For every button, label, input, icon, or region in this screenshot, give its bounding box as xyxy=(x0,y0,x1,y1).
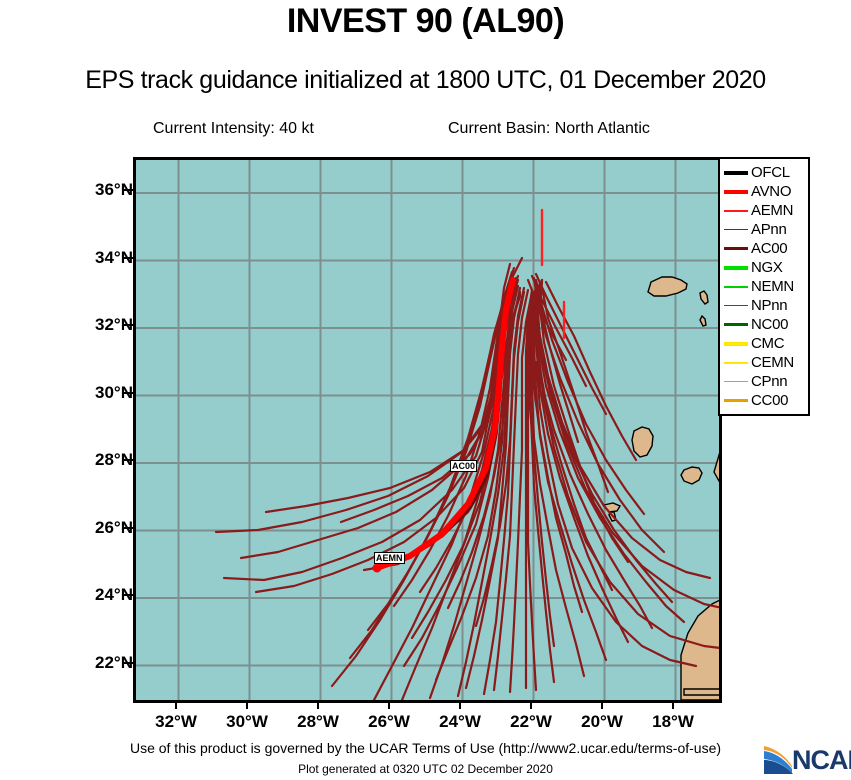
legend-item-cc00[interactable]: CC00 xyxy=(724,391,806,410)
legend-item-avno[interactable]: AVNO xyxy=(724,182,806,201)
lon-label-30: 30°W xyxy=(207,712,287,732)
plot-generated-text: Plot generated at 0320 UTC 02 December 2… xyxy=(0,762,851,776)
legend-item-ac00[interactable]: AC00 xyxy=(724,239,806,258)
legend-line-icon xyxy=(724,171,748,175)
lon-label-24: 24°W xyxy=(420,712,500,732)
legend-label: CEMN xyxy=(751,355,794,371)
legend-item-cemn[interactable]: CEMN xyxy=(724,353,806,372)
legend-line-icon xyxy=(724,247,748,250)
legend-item-npnn[interactable]: NPnn xyxy=(724,296,806,315)
legend-line-icon xyxy=(724,286,748,288)
ncar-swoosh-icon xyxy=(762,744,796,778)
legend-line-icon xyxy=(724,190,748,194)
legend-line-icon xyxy=(724,266,748,270)
lon-tick-26 xyxy=(388,700,390,709)
lon-tick-28 xyxy=(317,700,319,709)
legend-line-icon xyxy=(724,342,748,346)
lon-label-32: 32°W xyxy=(136,712,216,732)
model-legend: OFCL AVNO AEMN APnn AC00 NGX NEMN NPnn N… xyxy=(718,157,810,416)
lon-tick-22 xyxy=(530,700,532,709)
legend-item-cpnn[interactable]: CPnn xyxy=(724,372,806,391)
legend-label: AC00 xyxy=(751,241,787,257)
legend-label: OFCL xyxy=(751,165,790,181)
lon-label-22: 22°W xyxy=(491,712,571,732)
legend-line-icon xyxy=(724,399,748,402)
lon-tick-20 xyxy=(601,700,603,709)
legend-label: NC00 xyxy=(751,317,788,333)
legend-line-icon xyxy=(724,305,748,306)
legend-label: AEMN xyxy=(751,203,793,219)
legend-item-ofcl[interactable]: OFCL xyxy=(724,163,806,182)
legend-item-aemn[interactable]: AEMN xyxy=(724,201,806,220)
legend-label: APnn xyxy=(751,222,787,238)
ncar-wordmark: NCAR xyxy=(792,745,851,776)
lon-tick-24 xyxy=(459,700,461,709)
legend-label: AVNO xyxy=(751,184,791,200)
terms-of-use-text: Use of this product is governed by the U… xyxy=(0,740,851,756)
legend-item-apnn[interactable]: APnn xyxy=(724,220,806,239)
legend-item-nemn[interactable]: NEMN xyxy=(724,277,806,296)
legend-label: NEMN xyxy=(751,279,794,295)
ncar-logo: NCAR xyxy=(762,740,851,780)
legend-line-icon xyxy=(724,229,748,230)
lon-label-20: 20°W xyxy=(562,712,642,732)
legend-line-icon xyxy=(724,362,748,364)
legend-item-cmc[interactable]: CMC xyxy=(724,334,806,353)
lon-tick-30 xyxy=(246,700,248,709)
legend-line-icon xyxy=(724,381,748,382)
lon-label-18: 18°W xyxy=(633,712,713,732)
legend-line-icon xyxy=(724,210,748,212)
legend-label: NGX xyxy=(751,260,783,276)
legend-label: CMC xyxy=(751,336,784,352)
legend-item-nc00[interactable]: NC00 xyxy=(724,315,806,334)
lon-label-26: 26°W xyxy=(349,712,429,732)
lon-label-28: 28°W xyxy=(278,712,358,732)
lon-tick-32 xyxy=(175,700,177,709)
legend-label: NPnn xyxy=(751,298,787,314)
legend-item-ngx[interactable]: NGX xyxy=(724,258,806,277)
legend-label: CC00 xyxy=(751,393,788,409)
lon-tick-18 xyxy=(672,700,674,709)
legend-label: CPnn xyxy=(751,374,787,390)
legend-line-icon xyxy=(724,323,748,326)
